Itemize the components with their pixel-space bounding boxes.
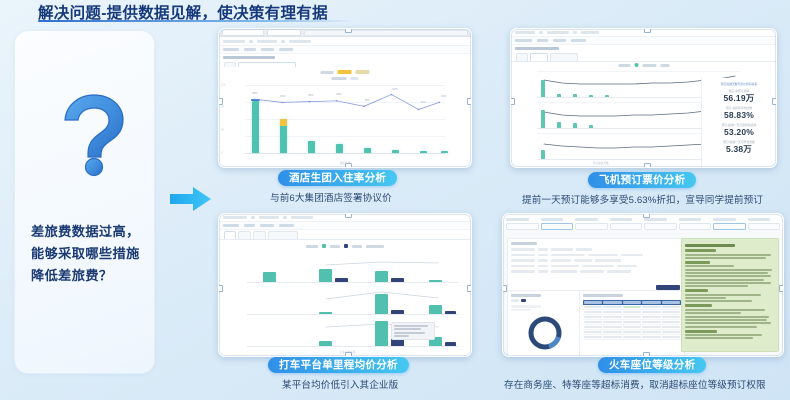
filter-field[interactable] (748, 218, 781, 230)
kpi-panel: 预订提前天数与票价折扣关系 预订-总预订金额 56.19万 预订-总折扣平均比例… (701, 78, 776, 167)
chart-hotel-occupancy: 120 80 40 0 (219, 67, 471, 167)
chart-plot-area-1: 120 80 40 0 (245, 85, 445, 153)
toggle[interactable] (521, 299, 526, 302)
question-text: 差旅费数据过高，能够采取哪些措施降低差旅费？ (31, 221, 143, 287)
bar (319, 341, 332, 346)
donut-chart (522, 315, 568, 351)
panel-tab[interactable] (268, 231, 298, 239)
address-bar[interactable] (304, 30, 468, 36)
toolbar-3[interactable] (219, 222, 471, 230)
caption-hotel-occupancy: 与前6大集团酒店签署协议价 (270, 190, 392, 204)
bar (573, 94, 577, 97)
chart-legend-1b (332, 77, 359, 80)
chart-panel (247, 254, 459, 282)
kpi-panel-title: 预订提前天数与票价折扣关系 (702, 82, 776, 86)
bar (557, 122, 561, 128)
panel-heading-2 (511, 45, 776, 52)
panel-tab[interactable] (253, 231, 266, 239)
caption-train-seat: 存在商务座、特等座等超标消费，取消超标座位等级预订权限 (504, 377, 766, 391)
bar (541, 80, 545, 97)
dashboard-4 (503, 214, 783, 356)
filter-field[interactable] (506, 218, 539, 230)
screenshot-hotel-occupancy[interactable]: 120 80 40 0 (218, 28, 472, 168)
filter-field[interactable] (679, 218, 712, 230)
bar (541, 110, 545, 128)
caption-ride-hailing: 某平台均价低引入其企业版 (282, 377, 398, 391)
bar (319, 312, 332, 314)
bar (375, 321, 388, 346)
bar (589, 125, 593, 128)
line-series-1 (245, 85, 445, 153)
bar (319, 269, 332, 282)
x-axis-label-2: 预订提前天数 (593, 161, 609, 165)
screenshot-ride-hailing[interactable]: 打车平台名称 (218, 213, 472, 357)
bar (335, 278, 348, 282)
chart-panel (247, 286, 459, 314)
kpi-value: 53.20% (702, 127, 776, 137)
kpi-value: 58.83% (702, 110, 776, 120)
toolbar-2[interactable] (511, 37, 776, 45)
bar (589, 95, 593, 97)
list-item (511, 254, 681, 257)
kpi-value: 56.19万 (702, 93, 776, 103)
chart-legend-3 (306, 244, 384, 248)
filter-field[interactable] (713, 218, 746, 230)
screenshot-train-seat[interactable] (502, 213, 784, 357)
pill-label-train-seat: 火车座位等级分析 (598, 357, 706, 373)
chart-ride-hailing: 打车平台名称 (219, 242, 471, 356)
list-item (511, 259, 681, 262)
panel-tab[interactable] (238, 231, 251, 239)
pill-label-ride-hailing: 打车平台单里程均价分析 (268, 357, 409, 373)
bar (445, 342, 456, 346)
bar (375, 294, 388, 314)
screenshot-flight-fare[interactable]: 预订提前天数 预订提前天数与票价折扣关系 预订-总预订金额 56.19万 预订-… (510, 28, 777, 168)
bar (391, 310, 404, 314)
chart-panel (247, 318, 459, 346)
caption-flight-fare: 提前一天预订能够多享受5.63%折扣，宣导同学提前预订 (522, 192, 763, 206)
list-item (511, 265, 681, 268)
browser-tab[interactable] (267, 29, 301, 36)
table-row[interactable] (583, 335, 681, 340)
bar (391, 278, 404, 282)
panel-tab-selected[interactable] (530, 53, 548, 61)
chart-flight-fare: 预订提前天数 预订提前天数与票价折扣关系 预订-总预订金额 56.19万 预订-… (511, 62, 776, 167)
pill-label-flight-fare: 飞机预订票价分析 (588, 172, 696, 188)
filter-field[interactable] (541, 218, 574, 230)
pill-label-hotel-occupancy: 酒店生团入住率分析 (278, 170, 397, 186)
panel-tabs-2[interactable] (511, 52, 776, 62)
kpi-value: 5.38万 (702, 144, 776, 154)
line-series (247, 254, 459, 282)
bar (375, 271, 388, 282)
bar (429, 305, 442, 314)
question-card: 差旅费数据过高，能够采取哪些措施降低差旅费？ (14, 30, 155, 374)
list-item (511, 248, 681, 251)
filter-field[interactable] (575, 218, 608, 230)
panel-tab[interactable] (550, 53, 578, 61)
breadcrumb-1[interactable] (219, 37, 471, 46)
bar (445, 311, 456, 314)
list-item (511, 270, 681, 273)
toolbar-1[interactable] (219, 46, 471, 54)
title-underline (38, 20, 354, 22)
bar (263, 272, 276, 282)
panel-heading-1 (219, 54, 471, 61)
bar (541, 150, 545, 159)
bar (557, 94, 561, 97)
question-mark-icon (61, 93, 127, 177)
analysis-note-panel (681, 238, 779, 352)
bar (429, 280, 442, 282)
chart-tooltip (391, 322, 435, 340)
panel-tab[interactable] (516, 53, 528, 61)
bar (605, 95, 609, 97)
data-table-card (579, 290, 685, 357)
donut-card (507, 290, 583, 357)
line-series (247, 286, 459, 314)
chart-legend-2 (618, 63, 669, 67)
filter-field[interactable] (610, 218, 643, 230)
panel-tab-selected[interactable] (224, 231, 236, 239)
filter-field[interactable] (644, 218, 677, 230)
panel-tabs-3[interactable] (219, 230, 471, 240)
chart-legend-1 (321, 70, 370, 74)
slide-root: 解决问题-提供数据见解，使决策有理有据 差旅费数据过高，能够采取哪些措施降低差旅… (0, 0, 790, 400)
browser-tab[interactable] (222, 29, 264, 36)
summary-list-card (507, 238, 685, 294)
right-arrow-icon (168, 184, 214, 214)
bar (573, 123, 577, 128)
